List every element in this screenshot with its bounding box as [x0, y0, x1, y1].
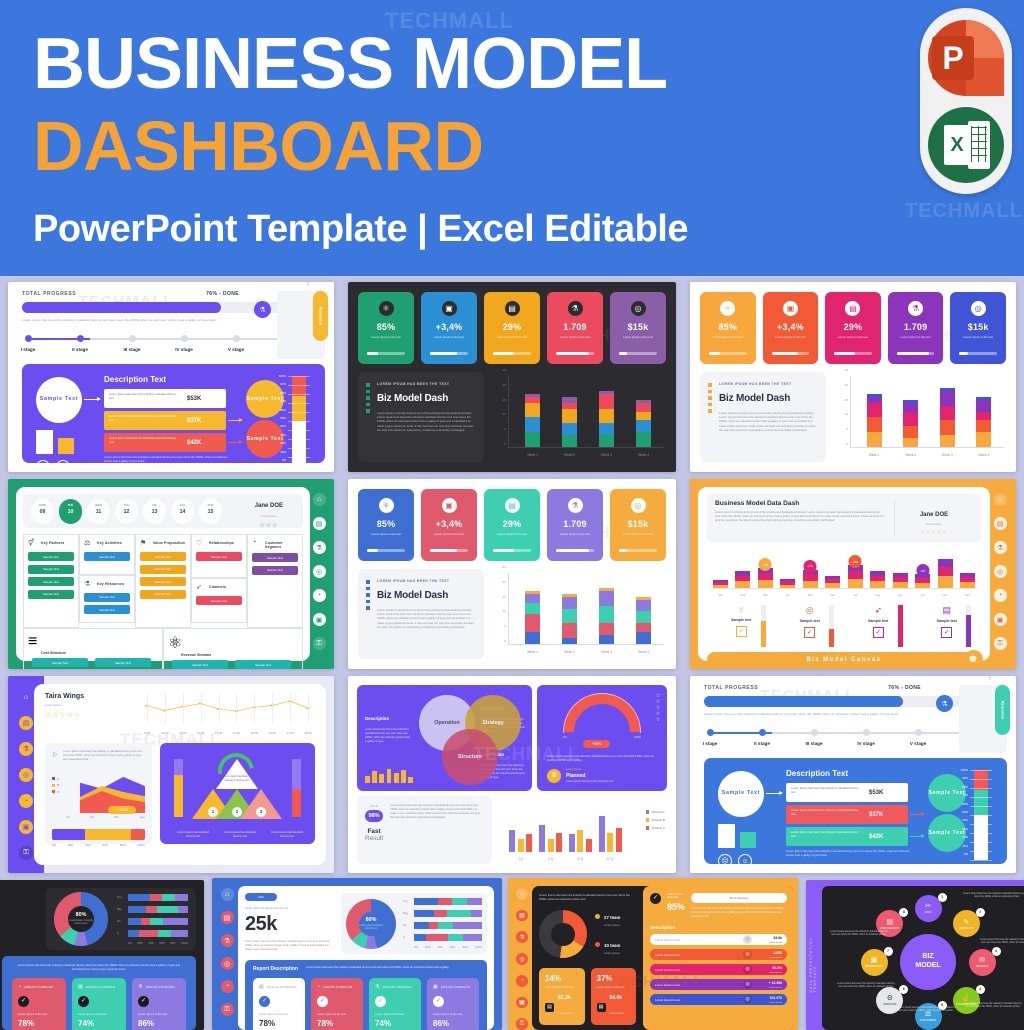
cell-tag[interactable]: Sample Text [140, 590, 186, 599]
target-icon: ◎ [631, 301, 646, 316]
bullet-dot [366, 587, 370, 591]
time-label: 9:00 [144, 731, 150, 735]
sidebar-icon[interactable]: ⚿ [19, 846, 33, 860]
kpi-card[interactable]: ⚛85%Lorem Ipsum is the text [358, 292, 414, 364]
money-row: ▤$1.3kLorem Ipsum [545, 995, 579, 1019]
row-value: $53K [863, 783, 908, 802]
sidebar-icon[interactable]: ◔ [19, 794, 33, 808]
bottom-tag[interactable]: Sample Text [172, 660, 228, 669]
intro-pill[interactable]: Intro [245, 893, 277, 901]
sidebar-icon[interactable]: ◎ [221, 957, 234, 970]
sidebar-icon[interactable]: ▣ [516, 997, 528, 1009]
fast-value[interactable]: 98% [365, 810, 383, 822]
hbar-seg [139, 930, 158, 937]
row-value-wrap: 60.5%Lorem Ipsum [752, 966, 782, 974]
month-seg [825, 583, 840, 589]
bar-label: Week 2 [556, 650, 583, 654]
desc-body: Lorem Ipsum has been the industry's stan… [365, 728, 411, 744]
kpi-progress [367, 549, 405, 552]
hbar-seg [162, 894, 175, 901]
bottom-tag[interactable]: Sample Text [32, 658, 88, 667]
desc-row[interactable]: Lorem Ipsum is text◎+ 12.300Lorem Ipsum [650, 979, 787, 990]
kpi-card[interactable]: ⚛85%Lorem Ipsum is the text [358, 489, 414, 561]
bar-segment [903, 403, 918, 412]
sidebar-icon[interactable]: ▣ [994, 613, 1007, 626]
sidebar-icon[interactable]: ◎ [19, 768, 33, 782]
sidebar-icon[interactable]: ▤ [221, 911, 234, 924]
metric-card[interactable]: ◔DREAM FOREVER✓Lorem Ipsum is the text78… [311, 978, 363, 1030]
flask-icon: ⚗ [84, 580, 90, 588]
hbar-seg [128, 894, 150, 901]
metric-card[interactable]: ◔DREAM FOREVER✓Lorem Ipsum is the text78… [12, 978, 66, 1030]
y-tick: 5 [494, 427, 506, 431]
bullet-dot [366, 403, 370, 407]
slide-kpi-warm[interactable]: TECHMALL⚛85%Lorem Ipsum is the text▣+3,4… [690, 282, 1016, 472]
bar-label: Week 3 [593, 453, 620, 457]
quarter-bar [599, 816, 605, 852]
resource-button[interactable]: Resource [313, 291, 328, 341]
pyramid: Lorem Ipsum has been the industry's dumm… [192, 759, 282, 837]
month-column: Jul+9% [848, 565, 863, 589]
hbar-cat: Da [403, 923, 407, 927]
description-row: Lorem Ipsum has been the industry's stan… [104, 433, 226, 452]
canvas-grid: ⚥Key PartnersSample TextSample TextSampl… [23, 534, 303, 628]
cell-tag[interactable]: Sample Text [196, 596, 242, 605]
slide-progress-blue[interactable]: TECHMALLTOTAL PROGRESS76% - DONELorem Ip… [690, 676, 1016, 873]
hbar-seg [178, 906, 188, 913]
check-icon: ✓ [18, 996, 29, 1007]
quarter-bar [539, 825, 545, 852]
stage-step[interactable]: III stage [788, 726, 840, 746]
cell-tag[interactable]: Sample Text [28, 552, 74, 561]
sidebar-icon[interactable]: ⚗ [19, 742, 33, 756]
kpi-label: Lorem Ipsum is the text [700, 335, 756, 339]
list-icon: ≡ [28, 633, 158, 651]
day-chip[interactable]: TUE10 [59, 499, 82, 524]
rocket-icon: ➶ [196, 583, 202, 591]
sidebar-icon[interactable]: ⌂ [221, 888, 234, 901]
scale-label: 70% [950, 793, 968, 801]
venn-description: DescriptionLorem Ipsum has been the indu… [365, 707, 411, 744]
slide-taira-wings[interactable]: ⌂▤⚗◎◔▣⚿TECHMALLTaira WingsLorem Ipsum☆☆☆… [8, 676, 334, 873]
resource-button-label: Resource [318, 307, 323, 325]
day-chip[interactable]: WED11 [87, 499, 110, 524]
bulb-icon: ⚗ [254, 301, 271, 318]
month-seg [893, 582, 908, 589]
card-title: DREAM FOREVER [383, 985, 412, 989]
slide-kpi-dark[interactable]: TECHMALL⚛85%Lorem Ipsum is the text▣+3,4… [348, 282, 676, 472]
stage-dot [863, 729, 870, 736]
bar-label: Week 4 [630, 453, 657, 457]
dash-person: Jane DOE [920, 512, 948, 518]
scale-label: 0% [268, 458, 286, 466]
bubble-label: PRODUCTS [959, 927, 974, 930]
sidebar-icon[interactable]: ⚿ [516, 1018, 528, 1030]
kpi-card[interactable]: ▤29%Lorem Ipsum is the text [484, 489, 540, 561]
stage-step[interactable]: IV stage [158, 332, 210, 352]
bar-label: Week 1 [861, 453, 888, 457]
area-x-axis: YaDaBfgAug [66, 815, 145, 819]
scale-tick [288, 376, 310, 377]
home-icon[interactable]: ⌂ [313, 493, 326, 506]
canvas-cell: ⚗Key ResourcesSample TextSample Text [79, 575, 135, 623]
gridline [308, 693, 309, 723]
desc-row[interactable]: Lorem Ipsum is text◎2.855Lorem Ipsum [650, 949, 787, 960]
sidebar-icon[interactable]: ⚗ [994, 541, 1007, 554]
window-icon: ▣ [442, 498, 457, 513]
sidebar-icon[interactable]: ⌂ [19, 690, 33, 704]
book-icon: ▤ [845, 301, 860, 316]
kpi-card[interactable]: ⚛85%Lorem Ipsum is the text [700, 292, 756, 364]
stage-step[interactable]: V stage [892, 726, 944, 746]
cell-tag[interactable]: Sample Text [140, 565, 186, 574]
center-bubble: BIZMODEL [900, 934, 956, 990]
cell-tag[interactable]: Sample Text [252, 553, 298, 562]
check-icon: ✓ [873, 627, 884, 638]
canvas-bottom-cell: ≡Cost StructureSample TextSample Text [23, 628, 163, 669]
kpi-card[interactable]: ⚗1.709Lorem Ipsum is the text [547, 489, 603, 561]
sidebar-icon[interactable]: ▤ [516, 910, 528, 922]
stage-step[interactable]: I stage [690, 726, 736, 746]
donut-chart: 80%Lorem Ipsum is simply dummy text [54, 892, 108, 946]
filter-icon[interactable]: ⚗ [313, 541, 326, 554]
row-value-wrap: $41.970Lorem Ipsum [752, 996, 782, 1004]
day-chip[interactable]: FRI13 [143, 499, 166, 524]
day-chip[interactable]: SUN15 [199, 499, 222, 524]
cell-tag[interactable]: Sample Text [28, 577, 74, 586]
sidebar-icon[interactable]: ⌂ [516, 888, 528, 900]
dash-header: Business Model Data DashLorem Ipsum is s… [707, 494, 981, 542]
day-dow: SUN [199, 503, 222, 507]
bottom-cell-title: Cost Structure [28, 651, 158, 655]
planned-body: Lorem Ipsum has been the industry's text [566, 780, 661, 783]
month-label: May [799, 594, 822, 597]
cell-tag[interactable]: Sample Text [84, 552, 130, 561]
slide-bottom-orange[interactable]: ⌂▤⚗◎◔▣⚿TECHMALLLorem Ipsum has been the … [508, 878, 798, 1030]
canvas-cell: ➶ChannelsSample Text [191, 578, 247, 622]
mini-bar [365, 776, 370, 783]
gridline [183, 693, 184, 723]
bottom-tag[interactable]: Sample Text [235, 660, 291, 669]
bubble-icon: ✎ [963, 918, 969, 926]
kpi-card[interactable]: ▣+3,4%Lorem Ipsum is the text [763, 292, 819, 364]
metric-card[interactable]: ⚗DREAM FOREVER✓Lorem Ipsum is the text86… [132, 978, 186, 1030]
sidebar-icon[interactable]: ⚿ [221, 1003, 234, 1016]
card-title: DREAM FOREVER [441, 985, 470, 989]
hbar-seg [414, 898, 438, 905]
venn-top: DescriptionLorem Ipsum has been the indu… [357, 685, 667, 791]
stage-step[interactable]: III stage [106, 332, 158, 352]
check-icon: ✓ [259, 996, 270, 1007]
sidebar-icon[interactable]: ▤ [994, 517, 1007, 530]
kpi-card[interactable]: ▣+3,4%Lorem Ipsum is the text [421, 292, 477, 364]
row-sub: Lorem Ipsum [769, 942, 782, 944]
kpi-label: Lorem Ipsum is the text [888, 335, 944, 339]
stage-step[interactable]: II stage [54, 332, 106, 352]
kpi-card[interactable]: ▤29%Lorem Ipsum is the text [825, 292, 881, 364]
hbar-tick: 100% [475, 946, 482, 949]
bottom-cell-title: Revenue Streams [168, 653, 298, 657]
kpi-lower: LOREM IPSUM HAS BEEN THE TEXTBiz Model D… [700, 372, 1006, 462]
y-tick: 20 [494, 383, 506, 387]
kpi-progress-fill [959, 352, 967, 355]
planned-eyebrow: Lorem Ipsum [566, 768, 581, 771]
taira-subtitle: Lorem Ipsum [45, 703, 140, 707]
stage-step[interactable]: V stage [210, 332, 262, 352]
stat-card[interactable]: 14%Lorem Ipsum is the text▤$1.3kLorem Ip… [539, 968, 585, 1025]
description-row: Lorem Ipsum has been the industry's stan… [104, 411, 226, 430]
stage-step[interactable]: IV stage [840, 726, 892, 746]
kpi-card[interactable]: ◎$15kLorem Ipsum is the text [950, 292, 1006, 364]
intro-note: Lorem Ipsum has been the industry's stan… [245, 940, 333, 951]
time-label: 17:00 [286, 731, 294, 735]
sample-circle: Sample Text [36, 377, 82, 423]
cell-tag[interactable]: Sample Text [140, 577, 186, 586]
sidebar-icon[interactable]: ◔ [516, 975, 528, 987]
bubble-main: BIZMODEL✂CONF1✎PRODUCTS2✉REVENUE3☝TECHNO… [822, 886, 1024, 1030]
hbar-row: Fr'g [414, 898, 482, 905]
cell-tag[interactable]: Sample Text [252, 566, 298, 575]
fast-label: Actual [365, 804, 383, 808]
card-title-row: ▣DREAM FOREVER [433, 984, 473, 990]
stage-label: I stage [690, 741, 736, 746]
atom-icon: ⚛ [379, 301, 394, 316]
scale-label: 80% [268, 391, 286, 399]
legend-label: B [57, 783, 59, 787]
scale-tick [970, 788, 992, 789]
sidebar-icon[interactable]: ⚿ [994, 637, 1007, 650]
desc-title: Description [365, 716, 389, 721]
stage-step[interactable]: II stage [736, 726, 788, 746]
stage-label: III stage [106, 347, 158, 352]
cell-tag[interactable]: Sample Text [28, 565, 74, 574]
y-tick: 10 [494, 412, 506, 416]
metric-card[interactable]: ▤DREAM FOREVER✓Lorem Ipsum is the text74… [72, 978, 126, 1030]
profile-name: Jane DOE [255, 503, 283, 509]
item-tube [829, 605, 834, 647]
hbar-seg [448, 934, 463, 941]
slide-data-dash[interactable]: ⌂▤⚗◎◔▣⚿Business Model Data DashLorem Ips… [690, 479, 1016, 669]
dash-item: ☿Sample text✓ [707, 605, 776, 650]
card-icon: ⚗ [138, 984, 143, 990]
gridline [254, 693, 255, 723]
kpi-progress-fill [556, 549, 589, 552]
desc-row[interactable]: Lorem Ipsum is text◎$4.6kLorem Ipsum [650, 934, 787, 945]
blue-band: Lorem Ipsum has been the industry's stan… [2, 956, 196, 1030]
month-seg [758, 573, 773, 580]
slide-business-model-canvas[interactable]: ⌂▤⚗◎◔▣⚿MON09TUE10WED11THU12FRI13SAT14SUN… [8, 479, 334, 669]
more-sources-button[interactable]: More Sources [691, 893, 787, 903]
taira-left-panel: ▷Lorem Ipsum has been the industry's sta… [45, 743, 152, 844]
bar-segment [562, 423, 577, 435]
taira-right-panel: Lorem Ipsum has been the industry's dumm… [160, 743, 315, 844]
hbar-tick: 0% [52, 843, 56, 847]
sidebar-icon[interactable]: ◔ [994, 589, 1007, 602]
kpi-label: Lorem Ipsum is the text [547, 532, 603, 536]
slide-bottom-blue[interactable]: ⌂▤⚗◎◔⚿IntroLorem Ipsum is simply dummy t… [212, 878, 502, 1030]
bullet-dot [708, 396, 712, 400]
gridline [236, 693, 237, 723]
stat-card[interactable]: 37%Lorem Ipsum is the text▤$4.6kLorem Ip… [591, 968, 637, 1025]
sidebar-icon[interactable]: ⚗ [516, 931, 528, 943]
row-text: Lorem Ipsum is text [655, 983, 743, 987]
briefcase-icon[interactable]: ▣ [313, 613, 326, 626]
kpi-card[interactable]: ◎$15kLorem Ipsum is the text [610, 489, 666, 561]
hbar-tick: 40% [85, 843, 91, 847]
kpi-value: +3,4% [421, 322, 477, 332]
kpi-card[interactable]: ◎$15kLorem Ipsum is the text [610, 292, 666, 364]
sidebar-icon[interactable]: ◔ [221, 980, 234, 993]
desc-row[interactable]: Lorem Ipsum is text◎$41.970Lorem Ipsum [650, 994, 787, 1005]
report-icon[interactable]: ▤ [313, 517, 326, 530]
bar-column: Week 2 [903, 400, 918, 447]
cell-tag[interactable]: Sample Text [196, 552, 242, 561]
blue-top: IntroLorem Ipsum is simply dummy text25k… [245, 893, 487, 954]
metric-card[interactable]: ▤DREAM FOREVER✓Lorem Ipsum is the text78… [253, 978, 305, 1030]
kpi-progress-fill [493, 352, 514, 355]
globe-icon[interactable]: ◎ [313, 565, 326, 578]
side-card-text: Lorem Ipsum has been the industry's text [984, 676, 992, 688]
resource-button-label: Resource [1000, 701, 1005, 719]
lock-icon[interactable]: ⚿ [313, 637, 326, 650]
header-banner: TECHMALL TECHMALL BUSINESS MODEL DASHBOA… [0, 0, 1024, 276]
activity-icon: ⚖ [84, 539, 90, 547]
right-col: More SourcesLorem Ipsum has been the ind… [691, 893, 787, 918]
progress-bar [22, 302, 284, 313]
bubble-note: Lorem Ipsum has been the industry's stan… [962, 892, 1024, 899]
scale-label: 100% [268, 374, 286, 382]
taira-stars: ☆☆☆☆☆ [45, 711, 140, 719]
team-sub: Lorem Ipsum [604, 952, 620, 955]
row-value-wrap: + 12.300Lorem Ipsum [752, 981, 782, 989]
slide-bottom-bubbles[interactable]: DATA PRESENTATION TEMPLATEBIZMODEL✂CONF1… [806, 880, 1024, 1030]
month-label: Mar [754, 594, 777, 597]
bar-segment [525, 594, 540, 603]
gridline [147, 693, 148, 723]
dash-body: Lorem Ipsum is simply dummy text of the … [715, 511, 886, 523]
canvas-column: ♡RelationshipsSample Text➶ChannelsSample… [191, 534, 247, 623]
row-text: Lorem Ipsum has been the industry's stan… [786, 827, 863, 846]
cell-tag[interactable]: Sample Text [28, 590, 74, 599]
scale-label: 20% [268, 441, 286, 449]
bar-segment [599, 423, 614, 435]
stage-label: IV stage [158, 347, 210, 352]
stage-label: I stage [8, 347, 54, 352]
scale-ticks [970, 770, 992, 860]
cell-tag[interactable]: Sample Text [140, 552, 186, 561]
kpi-progress [556, 352, 594, 355]
band-text: Lorem Ipsum has been the industry's stan… [12, 963, 186, 971]
crown-icon: ♛ [547, 769, 561, 783]
hbar-seg [426, 934, 448, 941]
box-heading: Biz Model Dash [719, 393, 816, 404]
format-badge: P X [920, 8, 1012, 194]
bullet-dot [708, 383, 712, 387]
row-text: Lorem Ipsum is text [655, 953, 743, 957]
bullet-dot [708, 409, 712, 413]
bubble-number: 8 [899, 908, 908, 917]
scale-tick [970, 815, 992, 816]
sidebar-icon[interactable]: ◎ [994, 565, 1007, 578]
item-tube-fill [898, 605, 903, 647]
desc-row[interactable]: Lorem Ipsum is text◎60.5%Lorem Ipsum [650, 964, 787, 975]
sidebar-icon[interactable]: ⌂ [994, 493, 1007, 506]
hbar-seg [414, 934, 426, 941]
month-label: Feb [731, 594, 754, 597]
metric-card[interactable]: ▣DREAM FOREVER✓Lorem Ipsum is the text86… [427, 978, 479, 1030]
pyramid-text: Lorem Ipsum has standard dummy text [220, 831, 260, 839]
team-legend: 27 teamLorem Ipsum10 teamLorem Ipsum [595, 906, 620, 962]
day-chip[interactable]: THU12 [115, 499, 138, 524]
sidebar-icon[interactable]: ◎ [516, 953, 528, 965]
slide-progress-purple[interactable]: TECHMALLTOTAL PROGRESS76% - DONELorem Ip… [8, 282, 334, 472]
sidebar-icon[interactable]: ▤ [19, 716, 33, 730]
sidebar-icon[interactable]: ⚗ [221, 934, 234, 947]
kpi-card[interactable]: ▣+3,4%Lorem Ipsum is the text [421, 489, 477, 561]
bottom-tag[interactable]: Sample Text [95, 658, 151, 667]
month-seg [758, 580, 773, 589]
bar-column: Week 3 [940, 388, 955, 447]
bubble-number: 2 [976, 908, 985, 917]
kpi-card[interactable]: ⚗1.709Lorem Ipsum is the text [888, 292, 944, 364]
slide-kpi-mixed[interactable]: TECHMALL⚛85%Lorem Ipsum is the text▣+3,4… [348, 479, 676, 669]
kpi-card[interactable]: ⚗1.709Lorem Ipsum is the text [547, 292, 603, 364]
metric-card[interactable]: ⚗DREAM FOREVER✓Lorem Ipsum is the text74… [369, 978, 421, 1030]
hbar-seg [438, 922, 453, 929]
hbar-row: Fr'g [128, 894, 188, 901]
orange-main: Lorem Ipsum has been the industry's stan… [532, 886, 794, 1030]
time-label: 13:00 [215, 731, 223, 735]
cell-tag[interactable]: Sample Text [84, 605, 130, 614]
check-icon: ✓ [78, 996, 89, 1007]
filter-button[interactable]: + 3 50% [108, 806, 136, 814]
kpi-value: 1.709 [547, 519, 603, 529]
scale-label: 10% [950, 844, 968, 852]
day-chip[interactable]: MON09 [31, 499, 54, 524]
quarter-bar [526, 834, 532, 852]
day-dow: THU [115, 503, 138, 507]
users-icon[interactable]: ◔ [313, 589, 326, 602]
canvas-main: MON09TUE10WED11THU12FRI13SAT14SUN15Jane … [16, 487, 310, 661]
hbar-seg [163, 918, 188, 925]
blue-main: IntroLorem Ipsum is simply dummy text25k… [238, 886, 494, 1030]
resource-button[interactable]: Resource [995, 685, 1010, 735]
stage-step[interactable]: I stage [8, 332, 54, 352]
dash-stars: ☆☆☆☆☆ [895, 530, 973, 536]
kpi-progress [619, 549, 657, 552]
scale-tick [288, 385, 310, 386]
slide-bottom-dark[interactable]: 80%Lorem Ipsum is simply dummy textFr'gB… [0, 880, 204, 1030]
bullet-dot [366, 600, 370, 604]
cell-tag[interactable]: Sample Text [84, 593, 130, 602]
mini-bar [394, 773, 399, 783]
row-sub: Lorem Ipsum [769, 1002, 782, 1004]
day-chip[interactable]: SAT14 [171, 499, 194, 524]
pyramid-apex [216, 759, 258, 789]
kpi-value: 29% [484, 322, 540, 332]
area-x-label: Bfg [115, 815, 120, 819]
hbar-seg [471, 910, 482, 917]
bubble-number: 7 [884, 947, 893, 956]
slide-venn-gauge[interactable]: TECHMALLDescriptionLorem Ipsum has been … [348, 676, 676, 873]
sidebar-icon[interactable]: ▣ [19, 820, 33, 834]
watermark-right: TECHMALL [905, 200, 1023, 223]
row-sub: Lorem Ipsum [769, 957, 782, 959]
item-tube-fill [761, 621, 766, 647]
y-tick: 10 [494, 609, 506, 613]
kpi-card[interactable]: ▤29%Lorem Ipsum is the text [484, 292, 540, 364]
heart-icon: ♡ [196, 539, 202, 547]
